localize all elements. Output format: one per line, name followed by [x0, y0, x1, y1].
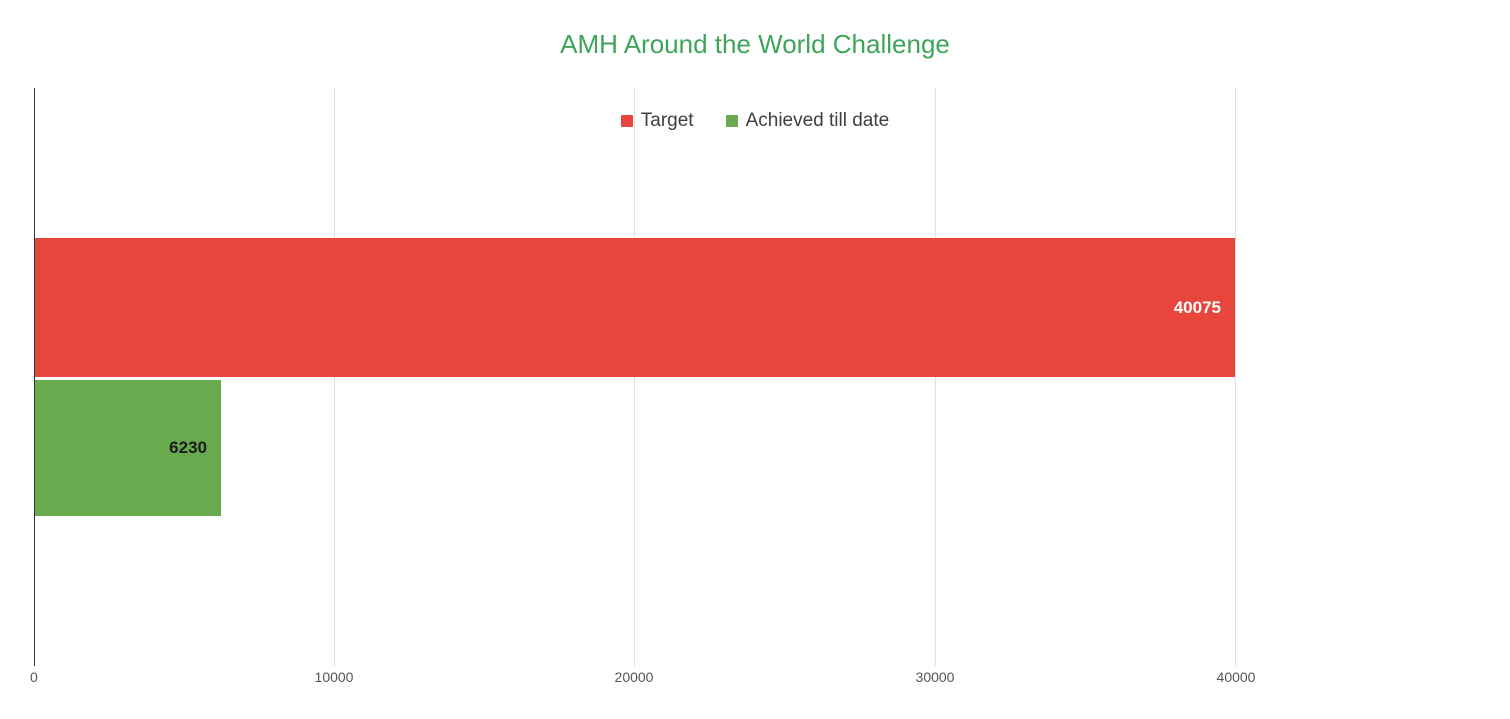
- gridline-10000: [334, 88, 335, 666]
- xtick-label-0: 0: [30, 668, 38, 686]
- gridline-30000: [935, 88, 936, 666]
- bar-achieved-till-date[interactable]: 6230: [34, 380, 221, 516]
- bar-target[interactable]: 40075: [34, 238, 1235, 377]
- y-axis-line: [34, 88, 35, 666]
- chart-title: AMH Around the World Challenge: [0, 28, 1510, 60]
- gridline-40000: [1235, 88, 1236, 666]
- bar-chart: AMH Around the World Challenge Target Ac…: [0, 0, 1510, 719]
- bar-label-target: 40075: [1174, 298, 1235, 318]
- xtick-label-40000: 40000: [1217, 668, 1256, 686]
- xtick-label-10000: 10000: [315, 668, 354, 686]
- bar-label-achieved-till-date: 6230: [169, 438, 221, 458]
- plot-area: 40075 6230: [34, 88, 1236, 666]
- gridline-20000: [634, 88, 635, 666]
- xtick-label-30000: 30000: [916, 668, 955, 686]
- xtick-label-20000: 20000: [615, 668, 654, 686]
